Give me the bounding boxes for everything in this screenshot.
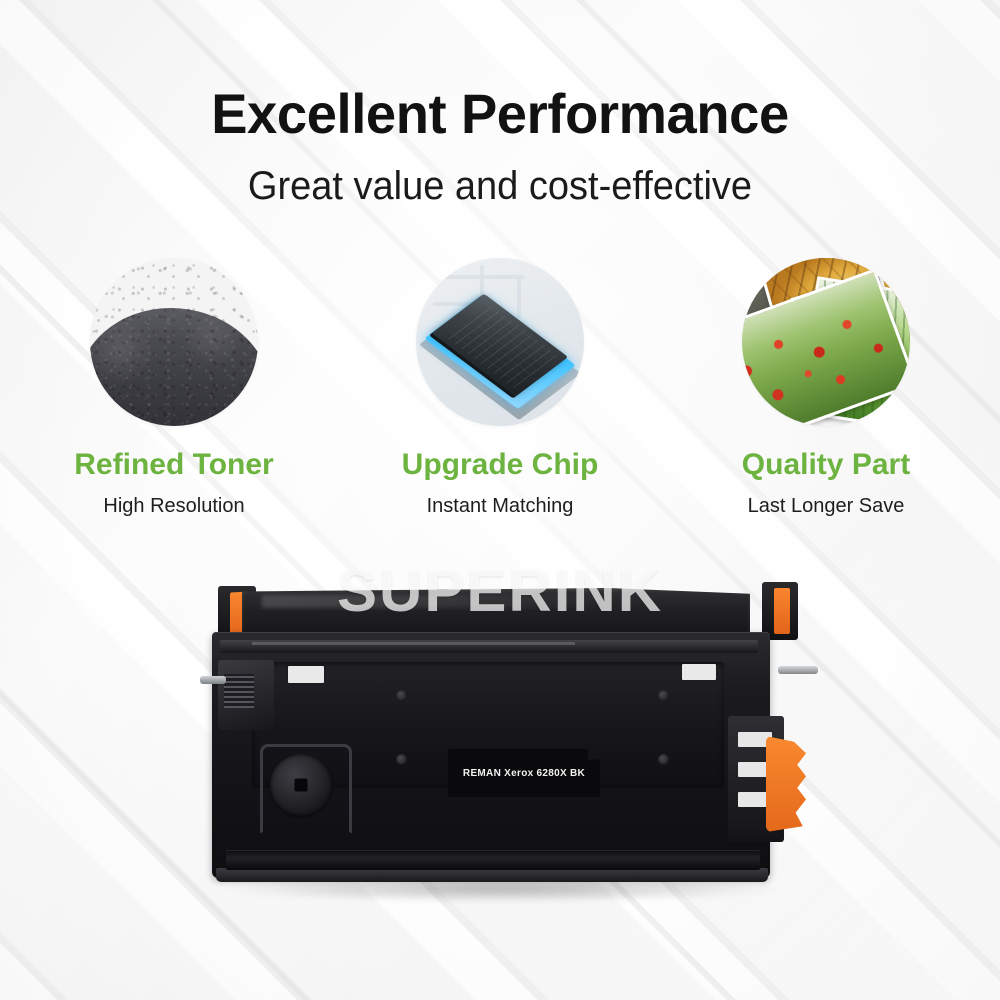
product-feature-banner: Excellent Performance Great value and co… bbox=[0, 0, 1000, 1000]
left-shaft bbox=[200, 676, 226, 684]
cartridge-top-rail bbox=[220, 640, 758, 653]
white-sticker bbox=[682, 664, 716, 680]
headline-block: Excellent Performance Great value and co… bbox=[0, 86, 1000, 206]
feature-caption: Instant Matching bbox=[427, 496, 574, 516]
feature-item-upgrade-chip: Upgrade Chip Instant Matching bbox=[385, 258, 615, 516]
toner-cartridge: REMAN Xerox 6280X BK bbox=[196, 566, 816, 896]
feature-caption: Last Longer Save bbox=[748, 496, 905, 516]
screw-icon bbox=[396, 754, 407, 765]
feature-title: Quality Part bbox=[742, 450, 910, 480]
product-image: REMAN Xerox 6280X BK bbox=[196, 566, 816, 896]
screw-icon bbox=[658, 754, 669, 765]
screw-icon bbox=[396, 690, 407, 701]
product-label-text: REMAN Xerox 6280X BK bbox=[463, 768, 585, 779]
toner-powder-icon bbox=[90, 258, 258, 426]
right-shaft bbox=[778, 666, 818, 674]
chip-icon bbox=[416, 258, 584, 426]
drive-gear-icon bbox=[270, 754, 332, 816]
left-mechanism bbox=[218, 660, 274, 730]
feature-title: Refined Toner bbox=[74, 450, 273, 480]
page-subtitle: Great value and cost-effective bbox=[25, 166, 975, 206]
cartridge-bottom-lip bbox=[216, 868, 768, 882]
feature-item-quality-part: Quality Part Last Longer Save bbox=[711, 258, 941, 516]
orange-tab-right bbox=[774, 588, 790, 634]
feature-item-refined-toner: Refined Toner High Resolution bbox=[59, 258, 289, 516]
feature-title: Upgrade Chip bbox=[402, 450, 599, 480]
drum-bar bbox=[226, 850, 760, 870]
feature-caption: High Resolution bbox=[103, 496, 244, 516]
product-label: REMAN Xerox 6280X BK bbox=[448, 749, 600, 797]
orange-gear-lever bbox=[766, 736, 806, 832]
screw-icon bbox=[658, 690, 669, 701]
page-title: Excellent Performance bbox=[15, 86, 985, 142]
photo-prints-icon bbox=[742, 258, 910, 426]
feature-list: Refined Toner High Resolution Upgrade Ch… bbox=[0, 258, 1000, 516]
white-sticker bbox=[288, 666, 324, 683]
